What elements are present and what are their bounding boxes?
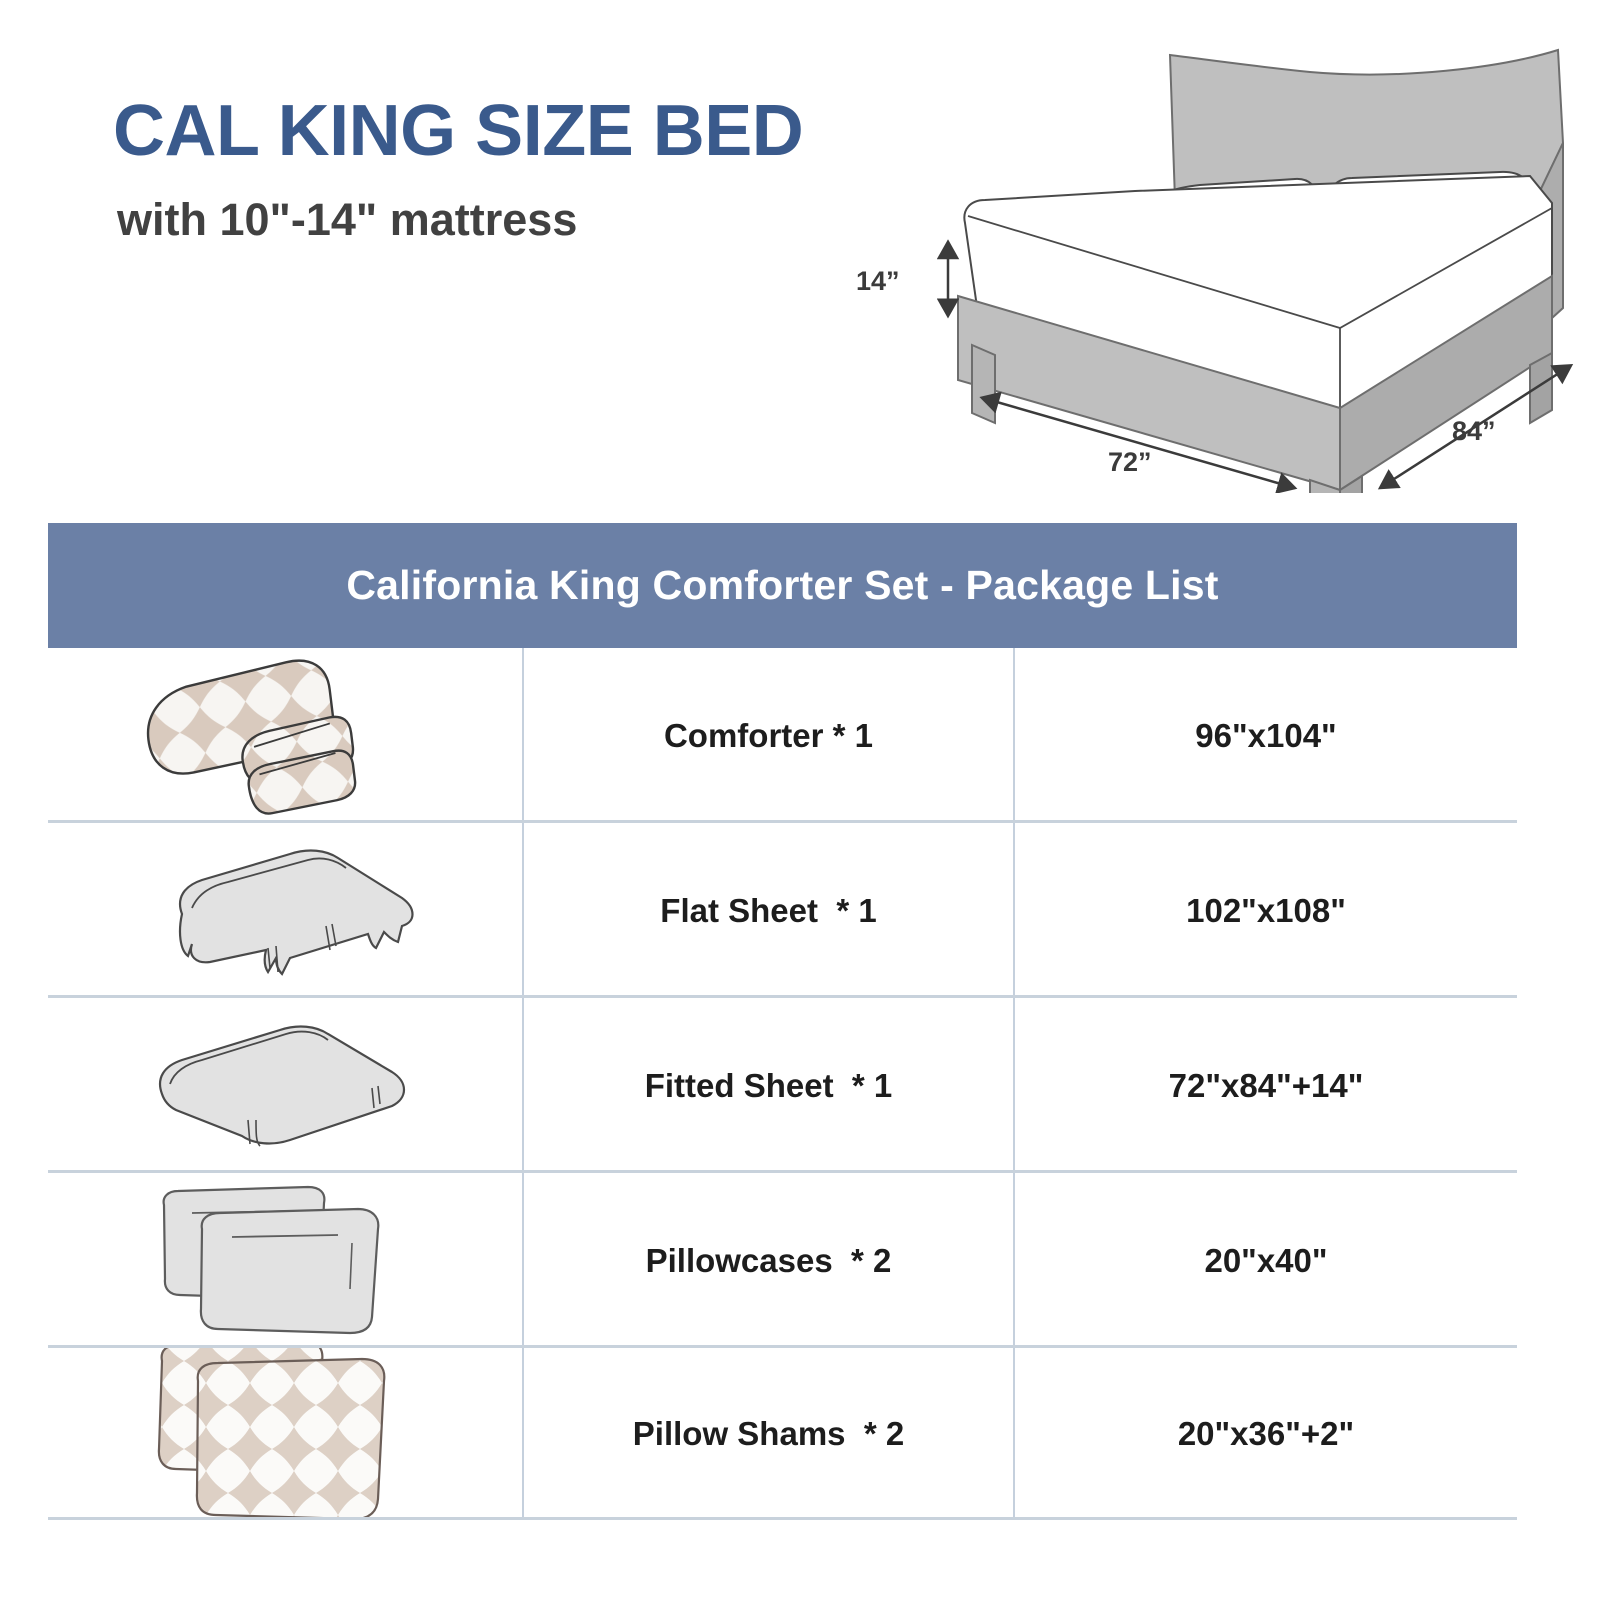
- folded-comforter-icon: [48, 648, 522, 823]
- package-list-banner: California King Comforter Set - Package …: [48, 523, 1517, 648]
- item-size: 96"x104": [1015, 648, 1517, 823]
- dimension-height: 14”: [856, 243, 948, 316]
- page-title: CAL KING SIZE BED: [113, 95, 933, 167]
- table-row: Pillow Shams * 2 20"x36"+2": [48, 1348, 1517, 1520]
- header-block: CAL KING SIZE BED with 10"-14" mattress: [113, 95, 933, 242]
- table-row: Comforter * 1 96"x104": [48, 648, 1517, 823]
- pillowcases-icon: [48, 1173, 522, 1348]
- table-row: Flat Sheet * 1 102"x108": [48, 823, 1517, 998]
- flat-sheet-icon: [48, 823, 522, 998]
- page-subtitle: with 10"-14" mattress: [117, 197, 933, 242]
- item-size: 72"x84"+14": [1015, 998, 1517, 1173]
- item-name: Comforter * 1: [522, 648, 1015, 823]
- item-name: Flat Sheet * 1: [522, 823, 1015, 998]
- item-size: 20"x40": [1015, 1173, 1517, 1348]
- table-row: Pillowcases * 2 20"x40": [48, 1173, 1517, 1348]
- fitted-sheet-icon: [48, 998, 522, 1173]
- height-dimension-label: 14”: [856, 266, 900, 296]
- pillow-shams-icon: [48, 1348, 522, 1520]
- bed-diagram: 14” 72” 84”: [840, 28, 1585, 493]
- item-name: Pillow Shams * 2: [522, 1348, 1015, 1520]
- item-name: Fitted Sheet * 1: [522, 998, 1015, 1173]
- width-dimension-label: 72”: [1108, 447, 1152, 477]
- package-list-table: Comforter * 1 96"x104" Flat Sheet * 1 10…: [48, 648, 1517, 1545]
- depth-dimension-label: 84”: [1452, 416, 1496, 446]
- item-size: 20"x36"+2": [1015, 1348, 1517, 1520]
- item-name: Pillowcases * 2: [522, 1173, 1015, 1348]
- item-size: 102"x108": [1015, 823, 1517, 998]
- package-list-title: California King Comforter Set - Package …: [346, 562, 1218, 609]
- table-row: Fitted Sheet * 1 72"x84"+14": [48, 998, 1517, 1173]
